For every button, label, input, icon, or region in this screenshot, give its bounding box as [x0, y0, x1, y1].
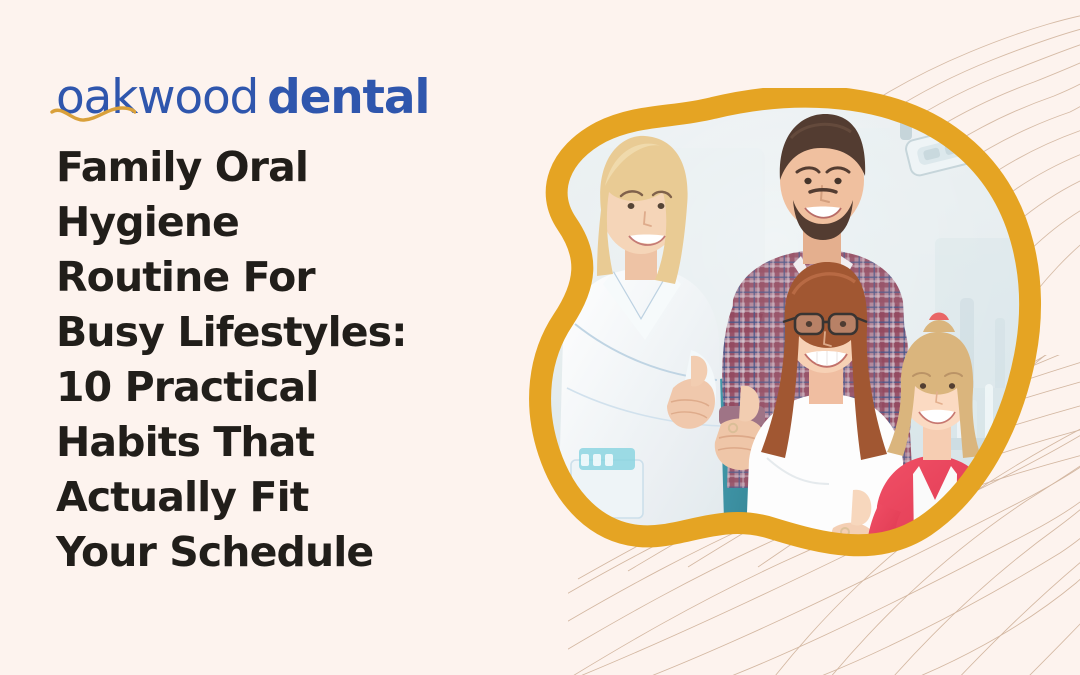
headline-line: Your Schedule: [56, 525, 486, 580]
oakwood-dental-logo[interactable]: oakwooddental: [56, 68, 520, 126]
family-dental-photo: [505, 88, 1045, 618]
headline-line: 10 Practical: [56, 360, 486, 415]
headline-line: Habits That: [56, 415, 486, 470]
page-title: Family Oral Hygiene Routine For Busy Lif…: [56, 140, 486, 580]
banner-canvas: oakwooddental Family Oral Hygiene Routin…: [0, 0, 1080, 675]
text-column: oakwooddental Family Oral Hygiene Routin…: [0, 0, 520, 675]
gold-swoosh-icon: [50, 103, 136, 125]
headline-line: Routine For: [56, 250, 486, 305]
headline-line: Busy Lifestyles:: [56, 305, 486, 360]
headline-line: Hygiene: [56, 195, 486, 250]
photo-blob-frame: [505, 88, 1045, 618]
headline-line: Actually Fit: [56, 470, 486, 525]
logo-word-dental: dental: [267, 70, 429, 125]
headline-line: Family Oral: [56, 140, 486, 195]
